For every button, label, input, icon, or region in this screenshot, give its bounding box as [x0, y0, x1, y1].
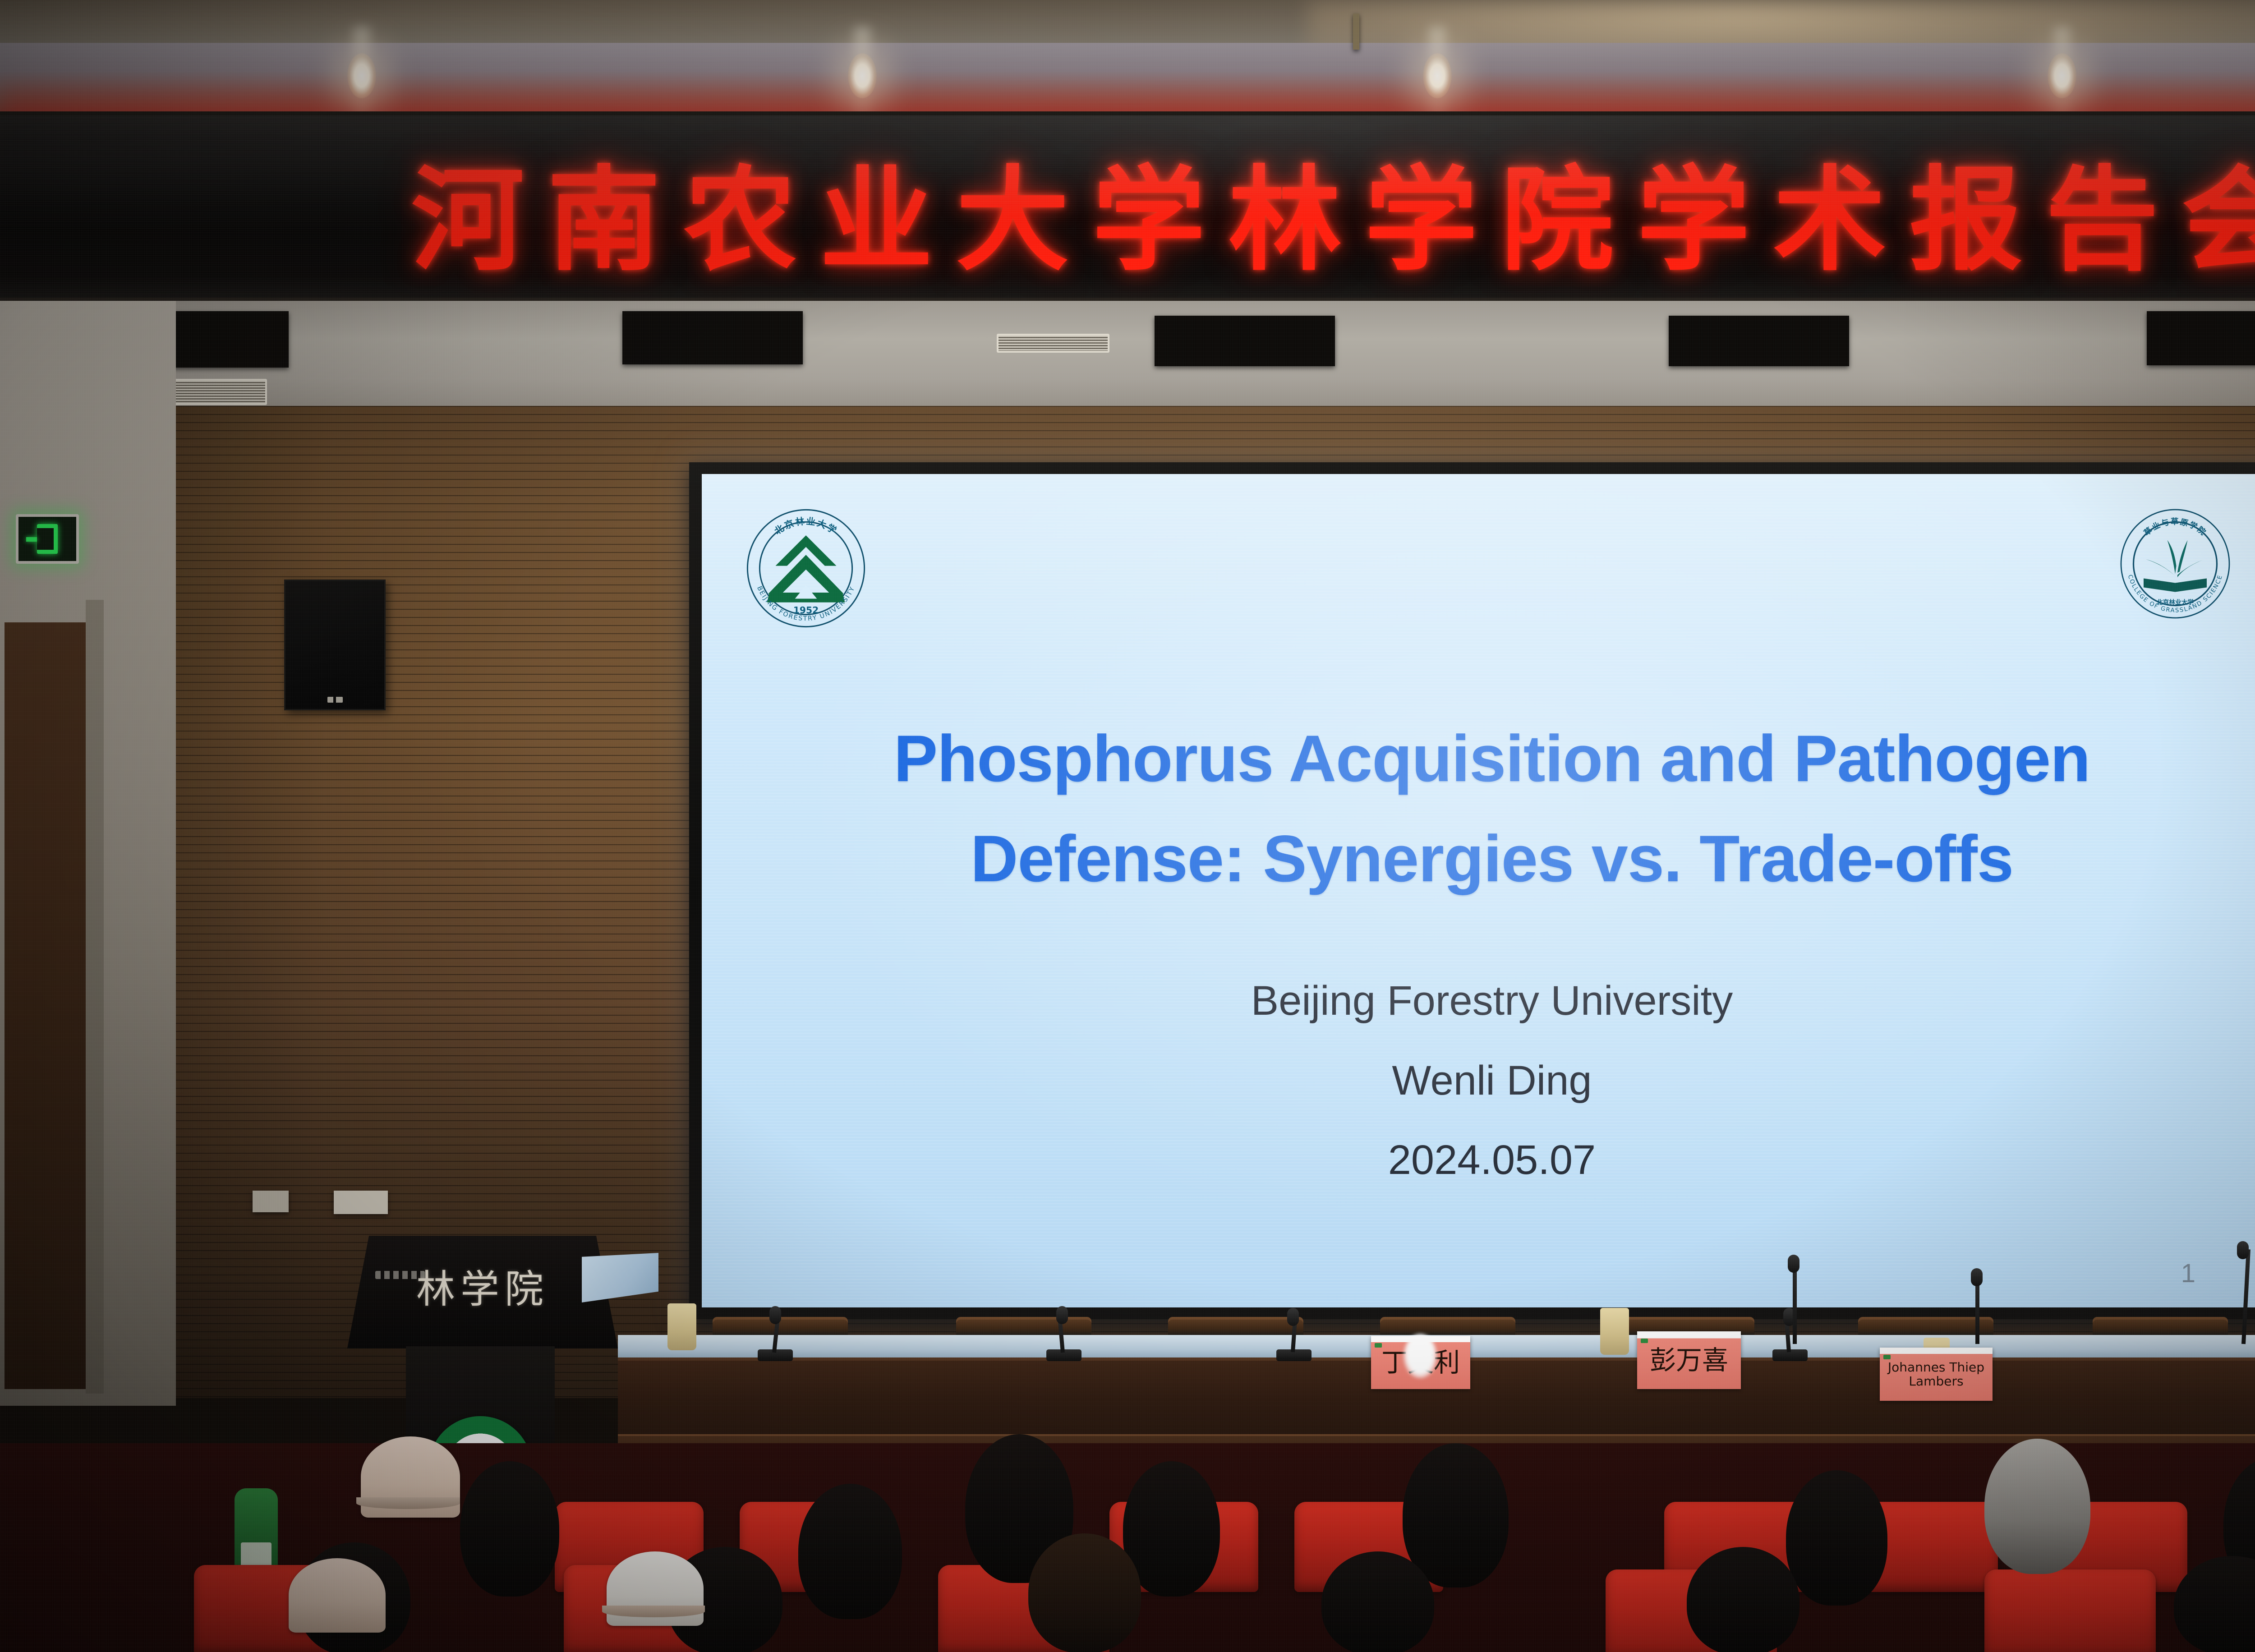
name-card-corner-mark [1883, 1355, 1891, 1359]
wall-speaker-left [284, 580, 386, 710]
audience-head [1786, 1470, 1887, 1606]
floor-mic-head [1971, 1268, 1983, 1286]
beijing-forestry-university-seal: 1952 北京林业大学 BEIJING FORESTRY UNIVERSITY [745, 507, 867, 629]
audience-baseball-cap [289, 1558, 386, 1633]
cap-brim [602, 1606, 705, 1617]
paper-cup [1600, 1308, 1629, 1355]
presentation-slide: 1952 北京林业大学 BEIJING FORESTRY UNIVERSITY [702, 474, 2255, 1307]
svg-text:北京林业大学: 北京林业大学 [2157, 598, 2194, 606]
floor-mic-stand [1975, 1276, 1979, 1344]
audience-head [460, 1461, 559, 1597]
floor-mic-stand [1793, 1263, 1797, 1344]
audience-head [1028, 1533, 1141, 1652]
name-card-line-1: Johannes Thiep [1888, 1360, 1984, 1374]
wall-outlet-plate [334, 1191, 388, 1214]
slide-page-number: 1 [2181, 1258, 2195, 1288]
name-card-line-1: 彭万喜 [1650, 1346, 1728, 1375]
name-card-corner-mark [1375, 1343, 1382, 1348]
slide-date: 2024.05.07 [702, 1120, 2255, 1200]
acoustic-panel [2147, 311, 2255, 365]
audience-head [1687, 1547, 1799, 1652]
audience-head [798, 1484, 902, 1619]
emergency-exit-sign [16, 514, 79, 564]
lecture-hall-photo: 河南农业大学林学院学术报告会 [0, 0, 2255, 1652]
acoustic-panel [622, 311, 803, 364]
svg-text:COLLEGE OF GRASSLAND SCIENCE: COLLEGE OF GRASSLAND SCIENCE [2126, 574, 2224, 614]
desk-mic-head [769, 1306, 781, 1324]
acoustic-panel [1669, 316, 1849, 366]
auditorium-seat[interactable] [1984, 1569, 2156, 1652]
name-card-peng: 彭万喜 [1637, 1331, 1741, 1389]
podium-head: 林学院 [347, 1236, 618, 1348]
svg-text:北京林业大学: 北京林业大学 [773, 515, 840, 537]
name-card-glare [1404, 1334, 1437, 1378]
left-door[interactable] [5, 622, 95, 1389]
floor-mic-head [1788, 1255, 1799, 1273]
slide-presenter-name: Wenli Ding [702, 1041, 2255, 1121]
ceiling-hanging-rod [1353, 14, 1359, 50]
audience-head [1403, 1443, 1509, 1588]
name-card-corner-mark [1641, 1339, 1648, 1343]
desk-mic-head [1056, 1306, 1068, 1324]
projection-screen: 1952 北京林业大学 BEIJING FORESTRY UNIVERSITY [689, 462, 2255, 1319]
desk-mic-head [1287, 1308, 1299, 1326]
left-door-frame [86, 600, 104, 1394]
speaker-brand-logo [327, 697, 343, 703]
college-of-grassland-science-seal: 北京林业大学 草业与草原学院 COLLEGE OF GRASSLAND SCIE… [2119, 507, 2232, 620]
slide-subtitle: Beijing Forestry University Wenli Ding 2… [702, 961, 2255, 1200]
wall-outlet-plate [253, 1191, 289, 1212]
slide-title: Phosphorus Acquisition and Pathogen Defe… [702, 709, 2255, 909]
slide-title-line-2: Defense: Synergies vs. Trade-offs [702, 809, 2255, 909]
audience-head [1321, 1551, 1434, 1652]
podium-label: 林学院 [347, 1257, 618, 1314]
floor-mic-head [2237, 1241, 2249, 1259]
slide-affiliation: Beijing Forestry University [702, 961, 2255, 1041]
acoustic-panel [1155, 316, 1335, 366]
led-banner-text: 河南农业大学林学院学术报告会 [0, 115, 2255, 301]
svg-text:草业与草原学院: 草业与草原学院 [2142, 517, 2209, 538]
audience-head-grey-hair [1984, 1439, 2090, 1574]
exit-running-man-icon [37, 524, 58, 554]
paper-cup [667, 1303, 696, 1350]
led-banner: 河南农业大学林学院学术报告会 [0, 111, 2255, 301]
slide-title-line-1: Phosphorus Acquisition and Pathogen [702, 709, 2255, 809]
name-card-lambers: Johannes Thiep Lambers [1880, 1348, 1993, 1401]
name-card-line-2: Lambers [1909, 1374, 1963, 1388]
cap-brim [356, 1497, 460, 1509]
air-conditioning-vent [997, 334, 1109, 353]
svg-text:1952: 1952 [793, 605, 819, 616]
